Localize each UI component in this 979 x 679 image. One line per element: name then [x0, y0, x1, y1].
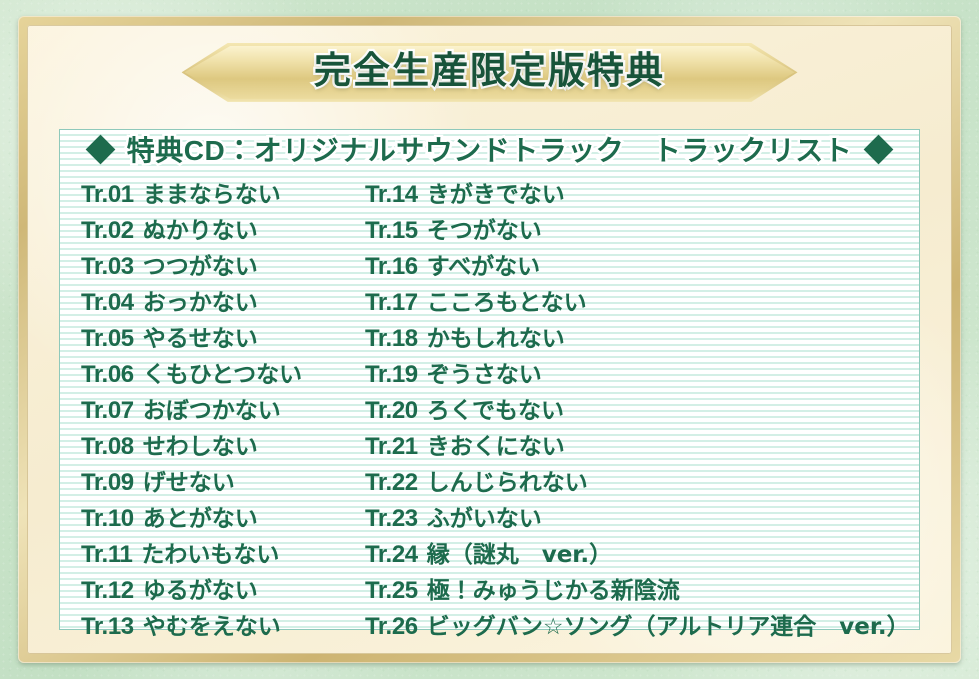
track-title: つつがない: [143, 247, 258, 281]
track-number: Tr.23: [365, 505, 418, 533]
track-title: そつがない: [427, 211, 542, 245]
track-title: げせない: [143, 463, 235, 497]
track-row: Tr.01ままならない: [81, 175, 359, 211]
track-number: Tr.20: [365, 397, 418, 425]
track-title: ビッグバン☆ソング（アルトリア連合 ver.）: [427, 607, 910, 641]
track-title: おぼつかない: [143, 391, 281, 425]
track-title: すべがない: [427, 247, 540, 281]
track-number: Tr.11: [81, 541, 132, 569]
track-title: 極！みゅうじかる新陰流: [427, 571, 680, 605]
tracklist-column-right: Tr.14きがきでないTr.15そつがないTr.16すべがないTr.17こころも…: [359, 175, 920, 630]
track-number: Tr.08: [81, 433, 134, 461]
track-number: Tr.21: [365, 433, 418, 461]
track-title: ままならない: [143, 175, 281, 209]
track-title: こころもとない: [427, 283, 587, 317]
track-title: あとがない: [143, 499, 258, 533]
track-row: Tr.14きがきでない: [365, 175, 920, 211]
track-title: ぞうさない: [427, 355, 542, 389]
track-title: おっかない: [143, 283, 258, 317]
track-row: Tr.16すべがない: [365, 247, 920, 283]
track-row: Tr.06くもひとつない: [81, 355, 359, 391]
track-number: Tr.09: [81, 469, 134, 497]
cream-paper-surface: 完全生産限定版特典 特典CD：オリジナルサウンドトラック トラックリスト Tr.…: [27, 25, 952, 654]
track-row: Tr.08せわしない: [81, 427, 359, 463]
track-title: やむをえない: [143, 607, 281, 641]
track-number: Tr.01: [81, 181, 134, 209]
track-row: Tr.15そつがない: [365, 211, 920, 247]
tracklist-column-left: Tr.01ままならないTr.02ぬかりないTr.03つつがないTr.04おっかな…: [59, 175, 359, 630]
track-row: Tr.02ぬかりない: [81, 211, 359, 247]
track-row: Tr.12ゆるがない: [81, 571, 359, 607]
track-title: ゆるがない: [143, 571, 258, 605]
title-banner: 完全生産限定版特典: [182, 43, 798, 102]
track-row: Tr.23ふがいない: [365, 499, 920, 535]
track-row: Tr.18かもしれない: [365, 319, 920, 355]
track-row: Tr.20ろくでもない: [365, 391, 920, 427]
track-number: Tr.22: [365, 469, 418, 497]
track-row: Tr.09げせない: [81, 463, 359, 499]
track-number: Tr.16: [365, 253, 418, 281]
track-row: Tr.19ぞうさない: [365, 355, 920, 391]
track-title: くもひとつない: [143, 355, 302, 389]
track-row: Tr.05やるせない: [81, 319, 359, 355]
track-row: Tr.10あとがない: [81, 499, 359, 535]
track-title: 縁（謎丸 ver.）: [427, 535, 612, 569]
track-row: Tr.11たわいもない: [81, 535, 359, 571]
track-number: Tr.14: [365, 181, 418, 209]
track-number: Tr.19: [365, 361, 418, 389]
track-number: Tr.13: [81, 613, 134, 641]
track-number: Tr.18: [365, 325, 418, 353]
track-row: Tr.13やむをえない: [81, 607, 359, 643]
track-number: Tr.24: [365, 541, 418, 569]
track-row: Tr.03つつがない: [81, 247, 359, 283]
track-title: やるせない: [143, 319, 258, 353]
promo-poster: 完全生産限定版特典 特典CD：オリジナルサウンドトラック トラックリスト Tr.…: [0, 0, 979, 679]
track-row: Tr.26ビッグバン☆ソング（アルトリア連合 ver.）: [365, 607, 920, 643]
track-title: たわいもない: [141, 535, 279, 569]
track-title: きおくにない: [427, 427, 565, 461]
track-title: しんじられない: [427, 463, 588, 497]
track-number: Tr.02: [81, 217, 134, 245]
tracklist: Tr.01ままならないTr.02ぬかりないTr.03つつがないTr.04おっかな…: [59, 129, 920, 630]
track-number: Tr.15: [365, 217, 418, 245]
track-number: Tr.04: [81, 289, 134, 317]
track-number: Tr.12: [81, 577, 134, 605]
track-number: Tr.06: [81, 361, 134, 389]
banner-title-text: 完全生産限定版特典: [260, 52, 720, 91]
track-row: Tr.24縁（謎丸 ver.）: [365, 535, 920, 571]
track-number: Tr.05: [81, 325, 134, 353]
track-title: ぬかりない: [143, 211, 258, 245]
track-row: Tr.04おっかない: [81, 283, 359, 319]
gold-frame-border: 完全生産限定版特典 特典CD：オリジナルサウンドトラック トラックリスト Tr.…: [18, 16, 961, 663]
track-row: Tr.25極！みゅうじかる新陰流: [365, 571, 920, 607]
track-title: ろくでもない: [427, 391, 564, 425]
track-title: かもしれない: [427, 319, 565, 353]
track-row: Tr.07おぼつかない: [81, 391, 359, 427]
track-row: Tr.22しんじられない: [365, 463, 920, 499]
track-title: せわしない: [143, 427, 258, 461]
track-number: Tr.07: [81, 397, 134, 425]
track-row: Tr.17こころもとない: [365, 283, 920, 319]
track-row: Tr.21きおくにない: [365, 427, 920, 463]
track-title: きがきでない: [427, 175, 565, 209]
track-number: Tr.17: [365, 289, 418, 317]
track-number: Tr.03: [81, 253, 134, 281]
title-banner-container: 完全生産限定版特典: [27, 43, 952, 102]
track-number: Tr.26: [365, 613, 418, 641]
track-number: Tr.10: [81, 505, 134, 533]
track-number: Tr.25: [365, 577, 418, 605]
track-title: ふがいない: [427, 499, 542, 533]
